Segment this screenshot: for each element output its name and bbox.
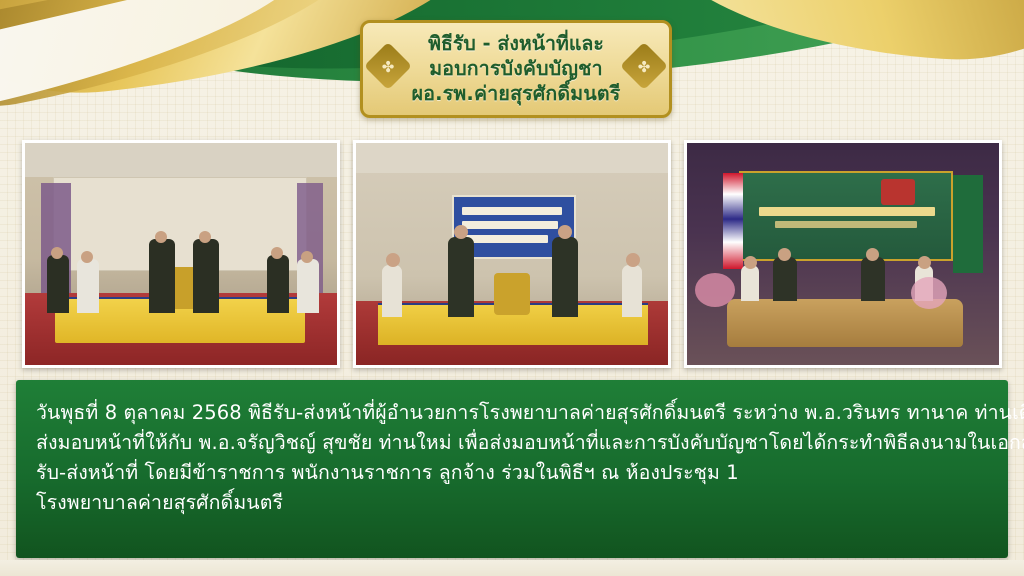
caption-line-4: โรงพยาบาลค่ายสุรศักดิ์มนตรี [36, 488, 994, 518]
slide-root: ✤ ✤ พิธีรับ - ส่งหน้าที่และ มอบการบังคับ… [0, 0, 1024, 576]
person-head [155, 231, 167, 243]
royal-emblem [494, 273, 530, 315]
person-figure [382, 265, 402, 317]
bottom-strip [0, 560, 1024, 576]
person-head [778, 248, 791, 261]
person-head [301, 251, 313, 263]
officer-figure-left [773, 257, 797, 301]
caption-panel: วันพุธที่ 8 ตุลาคม 2568 พิธีรับ-ส่งหน้าท… [16, 380, 1008, 558]
hospital-name-english [775, 221, 917, 228]
title-line-1: พิธีรับ - ส่งหน้าที่และ [409, 31, 623, 56]
officer-figure-right [552, 237, 578, 317]
ceiling [25, 143, 337, 177]
person-figure [741, 265, 759, 301]
title-plaque: ✤ ✤ พิธีรับ - ส่งหน้าที่และ มอบการบังคับ… [360, 20, 672, 118]
photo-row [22, 140, 1002, 368]
person-head [81, 251, 93, 263]
banner-text-line [462, 207, 562, 215]
ceiling [356, 143, 668, 173]
person-head [271, 247, 283, 259]
thai-flag-icon [723, 173, 743, 269]
person-head [744, 256, 757, 269]
title-line-3: ผอ.รพ.ค่ายสุรศักดิ์มนตรี [409, 81, 623, 106]
page-title: พิธีรับ - ส่งหน้าที่และ มอบการบังคับบัญช… [409, 31, 623, 106]
right-flower-ornament-icon: ✤ [636, 59, 652, 75]
hospital-backdrop [739, 171, 953, 261]
flower-arrangement-left [695, 273, 735, 307]
hospital-name-thai [759, 207, 935, 216]
title-line-2: มอบการบังคับบัญชา [409, 56, 623, 81]
left-flower-ornament-icon: ✤ [380, 59, 396, 75]
person-head [51, 247, 63, 259]
officer-figure-left [448, 237, 474, 317]
flower-arrangement-right [911, 277, 947, 309]
caption-line-1: วันพุธที่ 8 ตุลาคม 2568 พิธีรับ-ส่งหน้าท… [36, 398, 994, 428]
caption-text: วันพุธที่ 8 ตุลาคม 2568 พิธีรับ-ส่งหน้าท… [36, 398, 994, 518]
person-figure [267, 255, 289, 313]
unit-flag-icon [953, 175, 983, 273]
banner-text-line [462, 221, 558, 229]
person-head [866, 248, 879, 261]
banner-text-line [462, 235, 548, 243]
caption-line-3: รับ-ส่งหน้าที่ โดยมีข้าราชการ พนักงานราช… [36, 458, 994, 488]
hospital-logo-icon [881, 179, 915, 205]
person-figure [77, 259, 99, 313]
person-head [558, 225, 572, 239]
person-figure [193, 239, 219, 313]
person-head [454, 225, 468, 239]
caption-line-2: ส่งมอบหน้าที่ให้กับ พ.อ.จรัญวิชญ์ สุขชัย… [36, 428, 994, 458]
person-figure [622, 265, 642, 317]
photo-ceremony-handover [22, 140, 340, 368]
person-head [918, 256, 931, 269]
person-head [199, 231, 211, 243]
person-figure [297, 259, 319, 313]
person-figure [47, 255, 69, 313]
officer-figure-right [861, 257, 885, 301]
photo-signing-table [684, 140, 1002, 368]
photo-two-officers-stage [353, 140, 671, 368]
person-figure [149, 239, 175, 313]
person-head [386, 253, 400, 267]
left-diamond-ornament-icon [364, 42, 412, 90]
person-head [626, 253, 640, 267]
